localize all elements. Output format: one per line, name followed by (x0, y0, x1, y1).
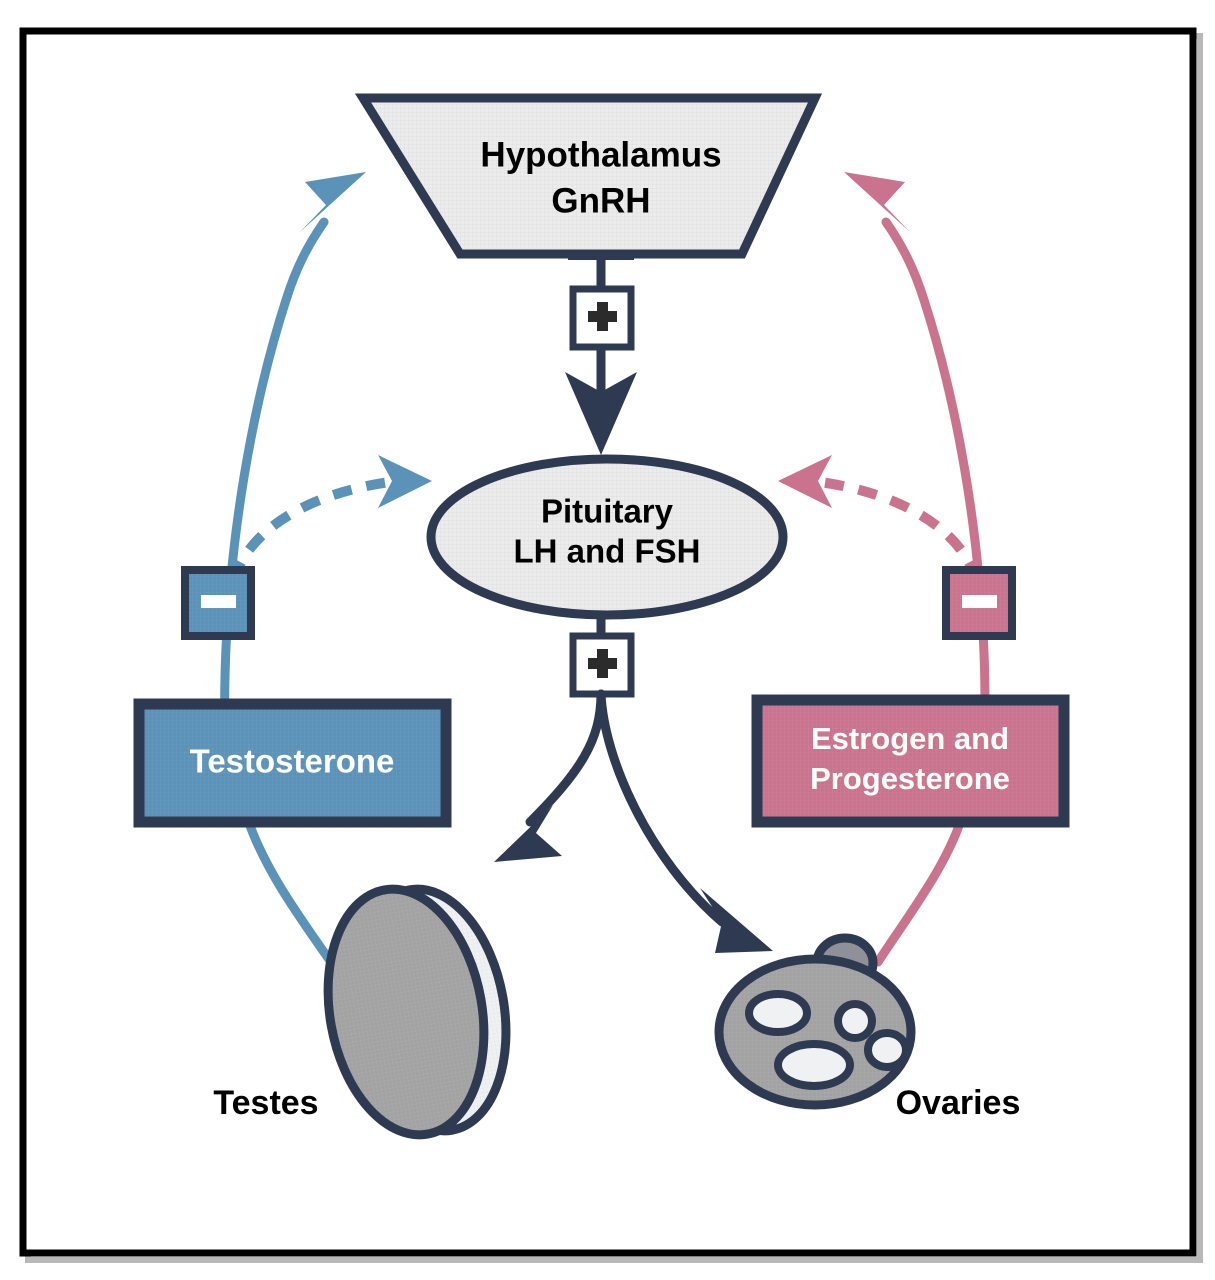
badge-minus-testosterone-feedback[interactable]: − (185, 570, 251, 636)
pituitary-label-line2: LH and FSH (514, 533, 701, 570)
testosterone-label: Testosterone (190, 743, 395, 780)
badge-minus-estrogen-feedback[interactable]: − (946, 570, 1012, 636)
node-pituitary[interactable]: Pituitary LH and FSH (431, 459, 783, 615)
testes-label: Testes (213, 1084, 318, 1122)
estrogen-label-line1: Estrogen and (811, 721, 1009, 756)
badge-plus-hypothalamus-to-pituitary[interactable]: + (573, 289, 631, 347)
pituitary-label-line1: Pituitary (541, 493, 674, 530)
diagram-canvas: Hypothalamus GnRH + Pituitary LH and FSH (0, 0, 1215, 1280)
ovaries-label: Ovaries (896, 1084, 1021, 1122)
hypothalamus-label-line1: Hypothalamus (480, 135, 721, 174)
badge-plus-pituitary-to-gonads[interactable]: + (573, 636, 631, 694)
node-testosterone[interactable]: Testosterone (139, 704, 446, 822)
node-estrogen-progesterone[interactable]: Estrogen and Progesterone (757, 700, 1064, 822)
hypothalamus-label-line2: GnRH (551, 181, 650, 220)
hpg-axis-diagram: Hypothalamus GnRH + Pituitary LH and FSH (0, 0, 1215, 1280)
estrogen-label-line2: Progesterone (810, 761, 1010, 796)
